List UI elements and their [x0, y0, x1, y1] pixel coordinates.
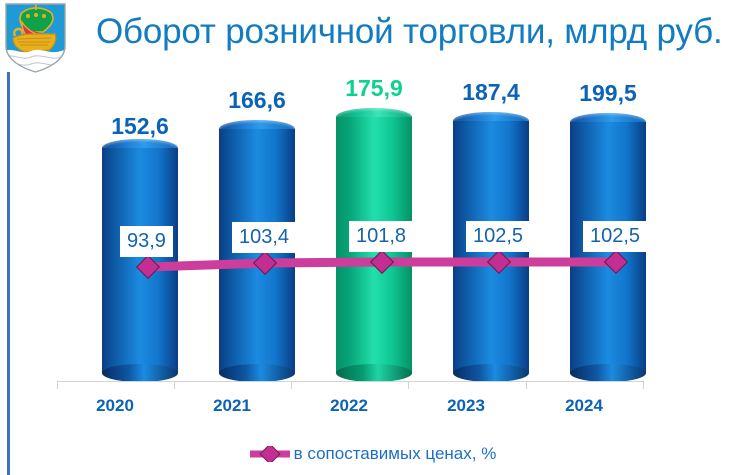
category-label-2021: 2021 — [172, 396, 292, 416]
line-value-label-2024: 102,5 — [583, 221, 647, 252]
axis-tick — [291, 381, 292, 389]
retail-turnover-chart: Оборот розничной торговли, млрд руб. 152… — [0, 0, 744, 475]
line-value-label-2022: 101,8 — [349, 221, 413, 252]
axis-tick — [408, 381, 409, 389]
legend-label-comparable-prices: в сопоставимых ценах, % — [294, 443, 497, 465]
category-label-2022: 2022 — [289, 396, 409, 416]
legend-diamond-line-icon — [248, 446, 292, 462]
category-label-2020: 2020 — [55, 396, 175, 416]
line-value-label-2020: 93,9 — [120, 226, 173, 257]
line-value-label-2021: 103,4 — [232, 222, 296, 253]
category-label-2024: 2024 — [524, 396, 644, 416]
axis-tick — [643, 381, 644, 389]
axis-tick — [57, 381, 58, 389]
axis-tick — [526, 381, 527, 389]
category-axis-line — [57, 381, 644, 382]
chart-legend: в сопоставимых ценах, % — [0, 440, 744, 468]
axis-tick — [174, 381, 175, 389]
line-value-label-2023: 102,5 — [466, 221, 530, 252]
category-label-2023: 2023 — [406, 396, 526, 416]
